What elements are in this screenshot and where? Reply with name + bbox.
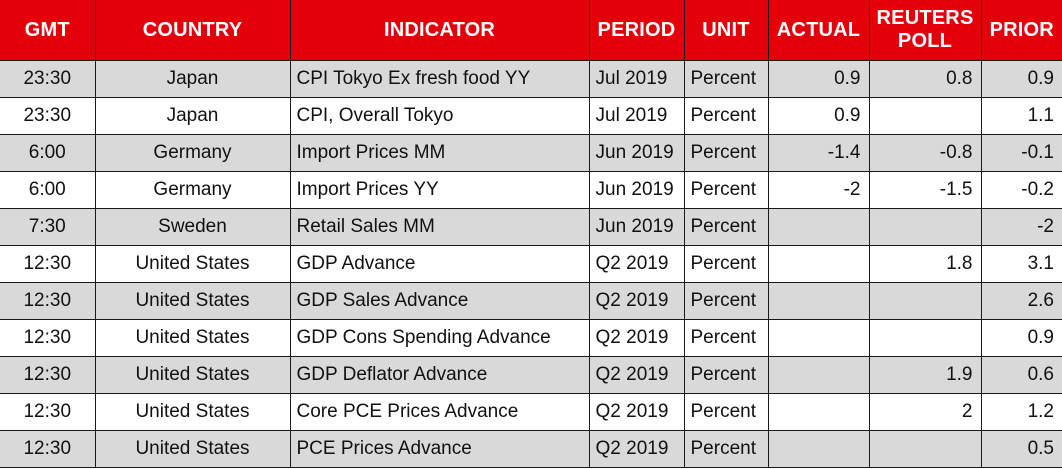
cell-unit: Percent <box>684 430 768 467</box>
cell-gmt: 7:30 <box>0 208 95 245</box>
cell-indicator: CPI, Overall Tokyo <box>290 97 589 134</box>
cell-prior: 2.6 <box>981 282 1062 319</box>
cell-prior: 1.2 <box>981 393 1062 430</box>
cell-country: Germany <box>95 134 290 171</box>
cell-actual <box>768 393 869 430</box>
cell-actual <box>768 356 869 393</box>
table-row[interactable]: 12:30United StatesGDP Cons Spending Adva… <box>0 319 1062 356</box>
table-row[interactable]: 7:30SwedenRetail Sales MMJun 2019Percent… <box>0 208 1062 245</box>
cell-unit: Percent <box>684 245 768 282</box>
table-row[interactable]: 12:30United StatesPCE Prices AdvanceQ2 2… <box>0 430 1062 467</box>
cell-period: Jul 2019 <box>589 60 684 97</box>
column-header-country[interactable]: COUNTRY <box>95 0 290 60</box>
cell-indicator: GDP Advance <box>290 245 589 282</box>
cell-actual: -2 <box>768 171 869 208</box>
column-header-period[interactable]: PERIOD <box>589 0 684 60</box>
table-row[interactable]: 6:00GermanyImport Prices MMJun 2019Perce… <box>0 134 1062 171</box>
cell-poll: -1.5 <box>869 171 981 208</box>
cell-prior: 0.5 <box>981 430 1062 467</box>
cell-prior: -0.1 <box>981 134 1062 171</box>
cell-country: United States <box>95 245 290 282</box>
cell-unit: Percent <box>684 282 768 319</box>
cell-country: United States <box>95 319 290 356</box>
table-row[interactable]: 12:30United StatesGDP AdvanceQ2 2019Perc… <box>0 245 1062 282</box>
cell-period: Jun 2019 <box>589 134 684 171</box>
cell-period: Q2 2019 <box>589 245 684 282</box>
cell-unit: Percent <box>684 356 768 393</box>
cell-period: Q2 2019 <box>589 319 684 356</box>
cell-gmt: 23:30 <box>0 97 95 134</box>
cell-actual <box>768 430 869 467</box>
cell-country: United States <box>95 393 290 430</box>
cell-actual: 0.9 <box>768 60 869 97</box>
cell-country: Germany <box>95 171 290 208</box>
cell-country: Japan <box>95 60 290 97</box>
cell-poll: 2 <box>869 393 981 430</box>
cell-prior: -0.2 <box>981 171 1062 208</box>
cell-prior: -2 <box>981 208 1062 245</box>
column-header-reuters-poll[interactable]: REUTERS POLL <box>869 0 981 60</box>
cell-indicator: Core PCE Prices Advance <box>290 393 589 430</box>
column-header-unit[interactable]: UNIT <box>684 0 768 60</box>
cell-gmt: 12:30 <box>0 319 95 356</box>
cell-gmt: 12:30 <box>0 430 95 467</box>
cell-prior: 1.1 <box>981 97 1062 134</box>
cell-period: Q2 2019 <box>589 282 684 319</box>
cell-country: United States <box>95 356 290 393</box>
cell-unit: Percent <box>684 393 768 430</box>
column-header-prior[interactable]: PRIOR <box>981 0 1062 60</box>
column-header-actual[interactable]: ACTUAL <box>768 0 869 60</box>
cell-actual <box>768 319 869 356</box>
cell-poll <box>869 430 981 467</box>
cell-indicator: Retail Sales MM <box>290 208 589 245</box>
table-row[interactable]: 23:30JapanCPI Tokyo Ex fresh food YYJul … <box>0 60 1062 97</box>
cell-period: Q2 2019 <box>589 430 684 467</box>
cell-unit: Percent <box>684 134 768 171</box>
cell-poll <box>869 282 981 319</box>
cell-unit: Percent <box>684 97 768 134</box>
cell-gmt: 6:00 <box>0 171 95 208</box>
cell-unit: Percent <box>684 60 768 97</box>
cell-country: United States <box>95 430 290 467</box>
cell-country: Japan <box>95 97 290 134</box>
cell-period: Q2 2019 <box>589 356 684 393</box>
cell-unit: Percent <box>684 171 768 208</box>
cell-indicator: PCE Prices Advance <box>290 430 589 467</box>
cell-gmt: 6:00 <box>0 134 95 171</box>
cell-poll: 1.9 <box>869 356 981 393</box>
cell-poll <box>869 319 981 356</box>
cell-indicator: GDP Cons Spending Advance <box>290 319 589 356</box>
column-header-indicator[interactable]: INDICATOR <box>290 0 589 60</box>
cell-actual: 0.9 <box>768 97 869 134</box>
cell-gmt: 12:30 <box>0 245 95 282</box>
cell-period: Jul 2019 <box>589 97 684 134</box>
cell-country: Sweden <box>95 208 290 245</box>
cell-period: Jun 2019 <box>589 171 684 208</box>
table-row[interactable]: 12:30United StatesGDP Sales AdvanceQ2 20… <box>0 282 1062 319</box>
cell-poll <box>869 97 981 134</box>
column-header-gmt[interactable]: GMT <box>0 0 95 60</box>
cell-gmt: 12:30 <box>0 356 95 393</box>
table-row[interactable]: 23:30JapanCPI, Overall TokyoJul 2019Perc… <box>0 97 1062 134</box>
cell-unit: Percent <box>684 319 768 356</box>
cell-gmt: 23:30 <box>0 60 95 97</box>
header-row: GMT COUNTRY INDICATOR PERIOD UNIT ACTUAL… <box>0 0 1062 60</box>
cell-indicator: GDP Deflator Advance <box>290 356 589 393</box>
table-header: GMT COUNTRY INDICATOR PERIOD UNIT ACTUAL… <box>0 0 1062 60</box>
cell-actual <box>768 282 869 319</box>
cell-gmt: 12:30 <box>0 282 95 319</box>
table-body: 23:30JapanCPI Tokyo Ex fresh food YYJul … <box>0 60 1062 467</box>
table-row[interactable]: 6:00GermanyImport Prices YYJun 2019Perce… <box>0 171 1062 208</box>
cell-poll: 1.8 <box>869 245 981 282</box>
cell-country: United States <box>95 282 290 319</box>
cell-prior: 0.9 <box>981 60 1062 97</box>
cell-poll <box>869 208 981 245</box>
cell-poll: 0.8 <box>869 60 981 97</box>
cell-prior: 0.6 <box>981 356 1062 393</box>
cell-unit: Percent <box>684 208 768 245</box>
table-row[interactable]: 12:30United StatesGDP Deflator AdvanceQ2… <box>0 356 1062 393</box>
cell-prior: 0.9 <box>981 319 1062 356</box>
cell-indicator: GDP Sales Advance <box>290 282 589 319</box>
cell-indicator: CPI Tokyo Ex fresh food YY <box>290 60 589 97</box>
cell-indicator: Import Prices MM <box>290 134 589 171</box>
cell-period: Q2 2019 <box>589 393 684 430</box>
table-row[interactable]: 12:30United StatesCore PCE Prices Advanc… <box>0 393 1062 430</box>
cell-actual: -1.4 <box>768 134 869 171</box>
cell-indicator: Import Prices YY <box>290 171 589 208</box>
cell-period: Jun 2019 <box>589 208 684 245</box>
cell-prior: 3.1 <box>981 245 1062 282</box>
cell-gmt: 12:30 <box>0 393 95 430</box>
cell-poll: -0.8 <box>869 134 981 171</box>
cell-actual <box>768 245 869 282</box>
cell-actual <box>768 208 869 245</box>
economic-calendar-table: GMT COUNTRY INDICATOR PERIOD UNIT ACTUAL… <box>0 0 1062 468</box>
